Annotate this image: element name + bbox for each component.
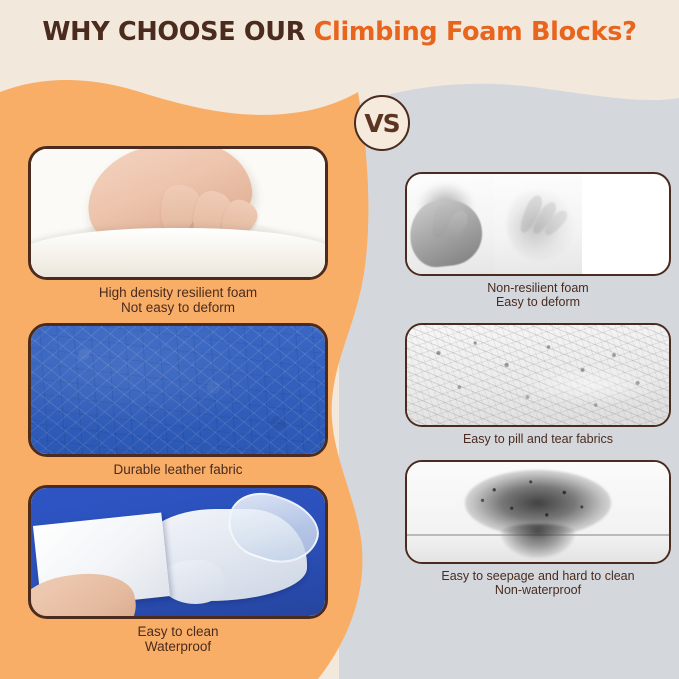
right-item-1: Non-resilient foam Easy to deform <box>405 172 671 309</box>
right-column-competitor: Non-resilient foam Easy to deform Easy t… <box>405 172 671 611</box>
left-caption-2: Durable leather fabric <box>28 457 328 477</box>
hand-deforming-nonresilient-foam-photo <box>405 172 671 276</box>
vs-badge: VS <box>354 95 410 151</box>
left-item-1: High density resilient foam Not easy to … <box>28 146 328 315</box>
title-part-primary: WHY CHOOSE OUR <box>42 17 313 47</box>
product-comparison-infographic: WHY CHOOSE OUR Climbing Foam Blocks? VS … <box>0 0 679 679</box>
wiping-milk-spill-on-blue-mat-photo <box>28 485 328 619</box>
left-caption-1: High density resilient foam Not easy to … <box>28 280 328 315</box>
right-caption-2: Easy to pill and tear fabrics <box>405 427 671 446</box>
left-item-3: Easy to clean Waterproof <box>28 485 328 654</box>
vs-badge-label: VS <box>364 111 399 136</box>
left-column-our-product: High density resilient foam Not easy to … <box>28 146 328 663</box>
right-item-3: Easy to seepage and hard to clean Non-wa… <box>405 460 671 597</box>
blue-leather-fabric-texture-photo <box>28 323 328 457</box>
right-caption-1: Non-resilient foam Easy to deform <box>405 276 671 309</box>
pilled-torn-fabric-texture-photo <box>405 323 671 427</box>
left-caption-3: Easy to clean Waterproof <box>28 619 328 654</box>
page-title: WHY CHOOSE OUR Climbing Foam Blocks? <box>0 18 679 46</box>
title-part-accent: Climbing Foam Blocks? <box>314 17 637 47</box>
header: WHY CHOOSE OUR Climbing Foam Blocks? <box>0 18 679 46</box>
right-item-2: Easy to pill and tear fabrics <box>405 323 671 446</box>
hand-pressing-resilient-foam-photo <box>28 146 328 280</box>
right-caption-3: Easy to seepage and hard to clean Non-wa… <box>405 564 671 597</box>
dark-seepage-stain-on-foam-photo <box>405 460 671 564</box>
left-item-2: Durable leather fabric <box>28 323 328 477</box>
